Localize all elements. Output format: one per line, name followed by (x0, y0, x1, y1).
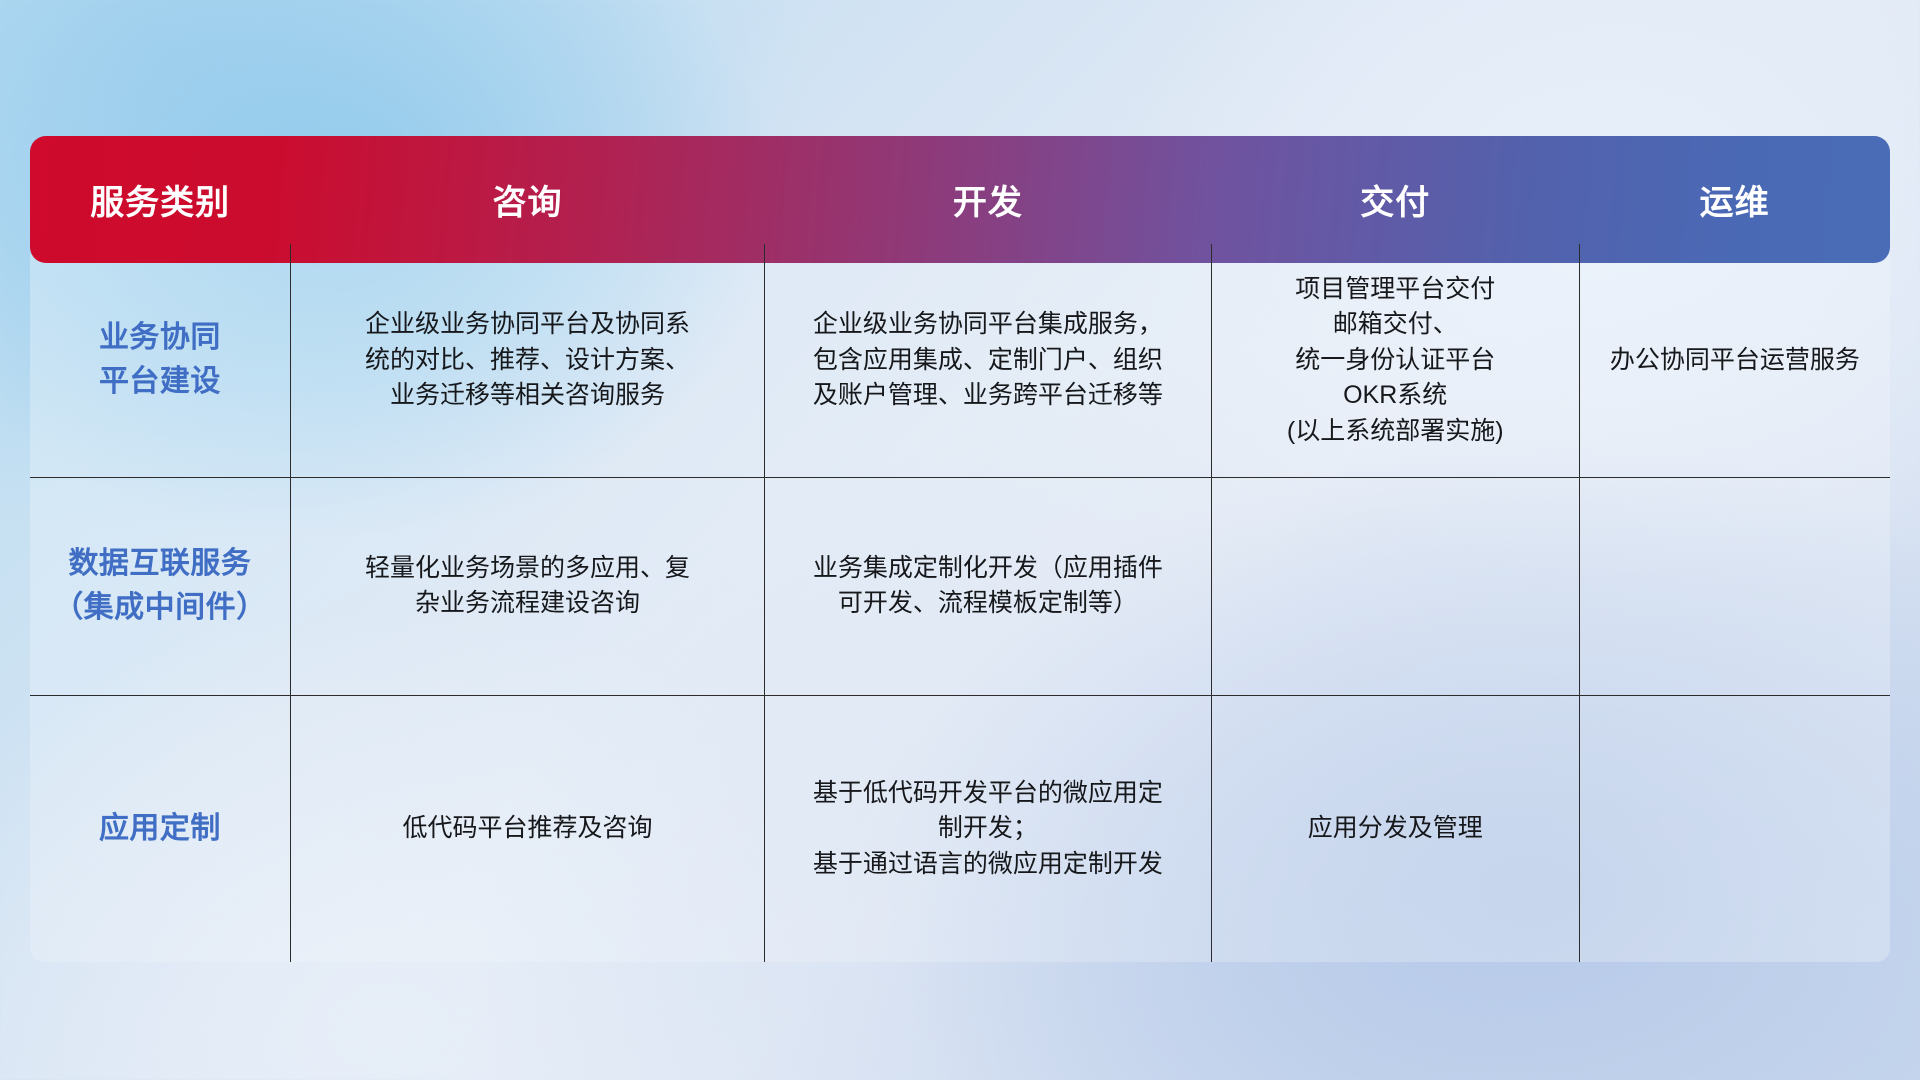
cell-row0-development: 企业级业务协同平台集成服务， 包含应用集成、定制门户、组织 及账户管理、业务跨平… (765, 244, 1211, 477)
cell-row1-operations (1579, 477, 1890, 695)
service-matrix-table: 业务协同 平台建设 企业级业务协同平台及协同系 统的对比、推荐、设计方案、 业务… (30, 244, 1890, 962)
cell-row0-operations: 办公协同平台运营服务 (1579, 244, 1890, 477)
column-header-service-category: 服务类别 (30, 175, 290, 224)
table-row: 应用定制 低代码平台推荐及咨询 基于低代码开发平台的微应用定 制开发； 基于通过… (30, 695, 1890, 962)
cell-row1-consulting: 轻量化业务场景的多应用、复 杂业务流程建设咨询 (290, 477, 764, 695)
cell-row1-development: 业务集成定制化开发（应用插件 可开发、流程模板定制等） (765, 477, 1211, 695)
table-row: 数据互联服务 （集成中间件） 轻量化业务场景的多应用、复 杂业务流程建设咨询 业… (30, 477, 1890, 695)
row-label-data-interconnect: 数据互联服务 （集成中间件） (30, 477, 290, 695)
cell-row1-delivery (1211, 477, 1579, 695)
table-row: 业务协同 平台建设 企业级业务协同平台及协同系 统的对比、推荐、设计方案、 业务… (30, 244, 1890, 477)
cell-row0-delivery: 项目管理平台交付 邮箱交付、 统一身份认证平台 OKR系统 (以上系统部署实施) (1211, 244, 1579, 477)
column-header-delivery: 交付 (1211, 175, 1579, 224)
row-label-business-collaboration: 业务协同 平台建设 (30, 244, 290, 477)
column-header-operations: 运维 (1579, 175, 1890, 224)
cell-row2-delivery: 应用分发及管理 (1211, 695, 1579, 962)
row-label-app-customization: 应用定制 (30, 695, 290, 962)
cell-row2-operations (1579, 695, 1890, 962)
column-header-consulting: 咨询 (290, 175, 764, 224)
cell-row2-development: 基于低代码开发平台的微应用定 制开发； 基于通过语言的微应用定制开发 (765, 695, 1211, 962)
cell-row0-consulting: 企业级业务协同平台及协同系 统的对比、推荐、设计方案、 业务迁移等相关咨询服务 (290, 244, 764, 477)
cell-row2-consulting: 低代码平台推荐及咨询 (290, 695, 764, 962)
column-header-development: 开发 (765, 175, 1211, 224)
